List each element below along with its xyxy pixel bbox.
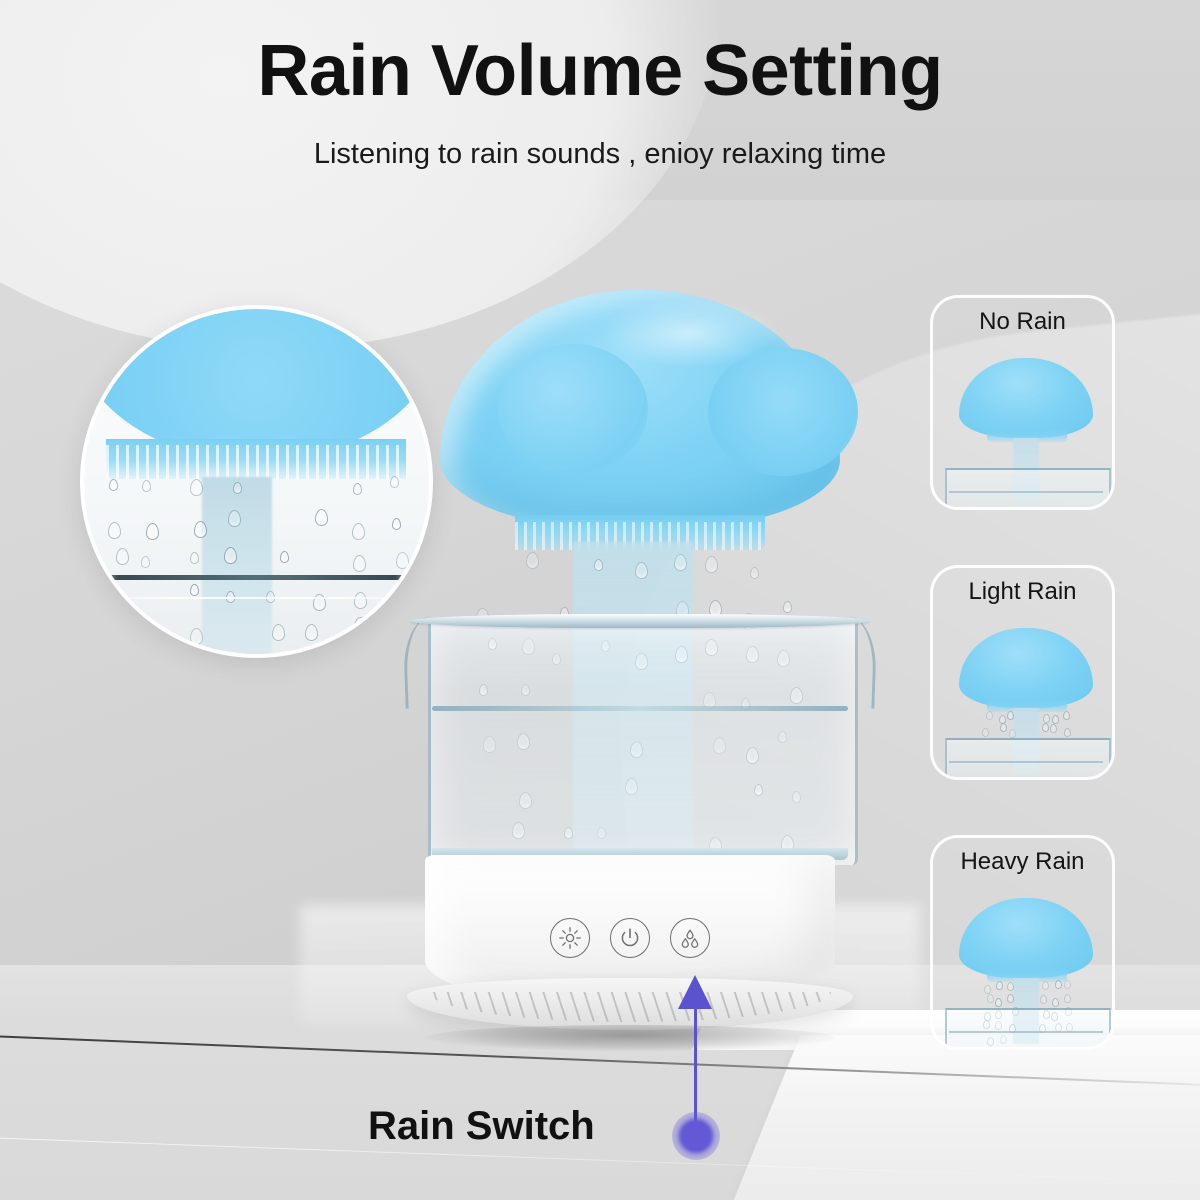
raindrop bbox=[194, 521, 207, 538]
mini-raindrop bbox=[995, 998, 1002, 1007]
mini-raindrop bbox=[1064, 980, 1071, 989]
mode-card-light-rain[interactable]: Light Rain bbox=[930, 565, 1115, 780]
mode-card-label: Light Rain bbox=[933, 578, 1112, 606]
raindrop bbox=[146, 523, 159, 540]
raindrop bbox=[353, 555, 366, 572]
zoom-tray-edge bbox=[84, 575, 429, 580]
cap-highlight bbox=[600, 298, 780, 368]
raindrop bbox=[145, 629, 158, 646]
mini-raindrop bbox=[1043, 714, 1050, 723]
raindrop bbox=[353, 483, 362, 495]
raindrop bbox=[142, 480, 151, 492]
infographic-canvas: Rain Volume Setting Listening to rain so… bbox=[0, 0, 1200, 1200]
mode-card-label: Heavy Rain bbox=[933, 848, 1112, 876]
rain-switch-button[interactable] bbox=[670, 918, 710, 958]
raindrop bbox=[228, 510, 241, 527]
light-button[interactable] bbox=[550, 918, 590, 958]
mini-raindrop bbox=[982, 728, 989, 737]
mini-raindrop bbox=[1009, 729, 1016, 738]
raindrop bbox=[224, 547, 237, 564]
mini-mushroom-cap bbox=[959, 358, 1093, 438]
rain-cloud-humidifier bbox=[395, 290, 865, 1050]
zoom-raindrops bbox=[84, 469, 429, 654]
mode-illustration bbox=[933, 620, 1112, 780]
mini-raindrop bbox=[1064, 994, 1071, 1003]
raindrop bbox=[190, 479, 203, 496]
raindrop bbox=[594, 559, 603, 571]
power-icon bbox=[619, 927, 641, 949]
raindrop bbox=[352, 523, 365, 540]
raindrop bbox=[750, 567, 759, 579]
reservoir-flare-left bbox=[402, 615, 454, 709]
mini-mushroom-cap bbox=[959, 628, 1093, 708]
mini-raindrop bbox=[1007, 982, 1014, 991]
sun-icon bbox=[558, 926, 582, 950]
mode-card-heavy-rain[interactable]: Heavy Rain bbox=[930, 835, 1115, 1050]
raindrop bbox=[526, 552, 539, 569]
mini-raindrop bbox=[1040, 995, 1047, 1004]
raindrop bbox=[190, 584, 199, 596]
reservoir-flare-right bbox=[825, 615, 877, 709]
raindrop bbox=[354, 617, 367, 634]
base-contact-shadow bbox=[425, 1025, 835, 1051]
raindrop bbox=[635, 562, 648, 579]
mini-tray bbox=[945, 468, 1111, 510]
mini-raindrop bbox=[1000, 723, 1007, 732]
mode-illustration bbox=[933, 350, 1112, 510]
raindrop bbox=[272, 624, 285, 641]
cap-lobe-right bbox=[708, 348, 858, 476]
page-subtitle: Listening to rain sounds , enioy relaxin… bbox=[0, 138, 1200, 171]
mini-mushroom-cap bbox=[959, 898, 1093, 978]
raindrop bbox=[705, 556, 718, 573]
mini-raindrop bbox=[1007, 711, 1014, 720]
page-title: Rain Volume Setting bbox=[0, 30, 1200, 112]
mini-raindrop bbox=[987, 994, 994, 1003]
raindrop bbox=[110, 624, 123, 641]
raindrop bbox=[674, 554, 687, 571]
raindrop bbox=[116, 548, 129, 565]
mini-raindrop bbox=[1063, 711, 1070, 720]
reservoir-rim bbox=[410, 614, 870, 628]
rain-switch-label: Rain Switch bbox=[368, 1104, 595, 1149]
mini-raindrop bbox=[1052, 998, 1059, 1007]
raindrop bbox=[305, 624, 318, 641]
power-button[interactable] bbox=[610, 918, 650, 958]
raindrop bbox=[783, 601, 792, 613]
mini-tray-water-line bbox=[949, 761, 1103, 763]
raindrop bbox=[141, 556, 150, 568]
detail-zoom-circle bbox=[80, 305, 433, 658]
zoom-tray-reflection bbox=[84, 597, 429, 599]
mini-raindrop bbox=[1042, 981, 1049, 990]
reservoir-water-line bbox=[432, 706, 848, 711]
mode-card-label: No Rain bbox=[933, 308, 1112, 336]
mini-raindrop bbox=[1064, 728, 1071, 737]
pointer-dot-core bbox=[684, 1124, 708, 1148]
mini-raindrop bbox=[986, 711, 993, 720]
water-reservoir bbox=[410, 620, 870, 865]
reservoir-glass bbox=[428, 620, 858, 865]
mini-raindrop bbox=[1042, 723, 1049, 732]
mushroom-cap bbox=[440, 290, 840, 530]
raindrop bbox=[280, 551, 289, 563]
raindrop bbox=[233, 482, 242, 494]
mini-raindrop bbox=[1055, 980, 1062, 989]
control-panel bbox=[550, 915, 710, 961]
raindrop bbox=[109, 479, 118, 491]
zoom-mushroom-cap bbox=[80, 305, 433, 461]
raindrop bbox=[108, 522, 121, 539]
mini-tray-water-line bbox=[949, 1031, 1103, 1033]
raindrop bbox=[190, 628, 203, 645]
raindrop bbox=[315, 509, 328, 526]
mini-tray bbox=[945, 738, 1111, 780]
mini-raindrop bbox=[1050, 724, 1057, 733]
mode-card-no-rain[interactable]: No Rain bbox=[930, 295, 1115, 510]
raindrop bbox=[354, 592, 367, 609]
background-pedestal bbox=[720, 1035, 1200, 1200]
raindrop bbox=[190, 552, 199, 564]
mini-tray bbox=[945, 1008, 1111, 1050]
mini-tray-water-line bbox=[949, 491, 1103, 493]
mini-raindrop bbox=[996, 981, 1003, 990]
cap-lobe-left bbox=[498, 344, 648, 474]
mode-illustration bbox=[933, 890, 1112, 1050]
mini-raindrop bbox=[1052, 715, 1059, 724]
water-drops-icon bbox=[678, 926, 702, 950]
mini-raindrop bbox=[1007, 994, 1014, 1003]
